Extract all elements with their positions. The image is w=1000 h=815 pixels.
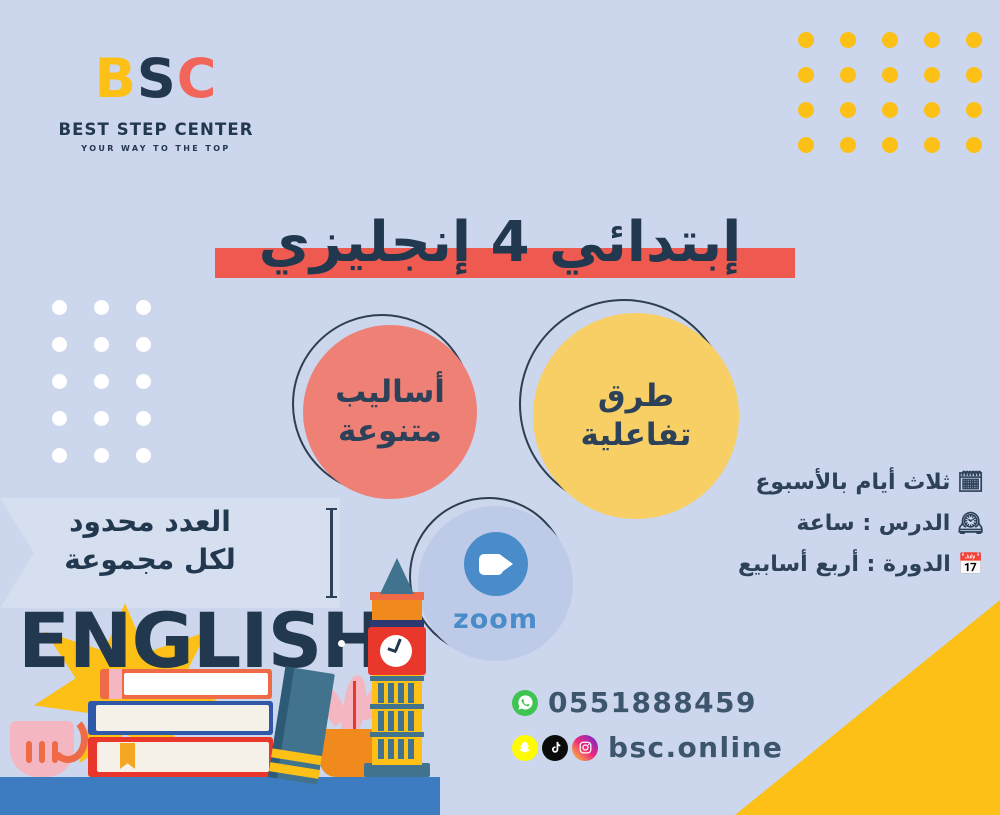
calendar-icon-2: 📅	[958, 554, 984, 575]
decorative-dot	[924, 67, 940, 83]
decorative-dot	[798, 102, 814, 118]
contact-block: 0551888459 bsc.online	[512, 686, 783, 776]
limited-seats-line-2: لكل مجموعة	[0, 541, 300, 579]
course-details-list: 🗓 ثلاث أيام بالأسبوع 🕰 الدرس : ساعة 📅 ال…	[684, 470, 984, 593]
big-ben-illustration	[362, 565, 432, 777]
tiktok-icon[interactable]	[542, 735, 568, 761]
decorative-dot	[94, 337, 109, 352]
decorative-dot	[94, 411, 109, 426]
snapchat-icon[interactable]	[512, 735, 538, 761]
decorative-dot	[136, 411, 151, 426]
decorative-dot	[136, 337, 151, 352]
phone-number[interactable]: 0551888459	[548, 686, 757, 719]
decorative-dot	[94, 374, 109, 389]
logo-name: BEST STEP CENTER	[56, 120, 256, 139]
course-detail-schedule: 🗓 ثلاث أيام بالأسبوع	[684, 470, 984, 495]
decorative-dot	[52, 300, 67, 315]
ground-strip	[0, 777, 440, 815]
teacup-illustration	[10, 715, 88, 777]
decorative-dot	[882, 32, 898, 48]
decorative-dot	[136, 300, 151, 315]
decorative-dot	[924, 32, 940, 48]
yellow-dot-grid	[798, 32, 1000, 172]
decorative-dot	[798, 67, 814, 83]
decorative-dot	[94, 448, 109, 463]
course-detail-duration: 📅 الدورة : أربع أسابيع	[684, 552, 984, 577]
varied-methods-circle: أساليبمتنوعة	[303, 325, 477, 499]
decorative-dot	[840, 102, 856, 118]
decorative-dot	[882, 137, 898, 153]
course-detail-lesson-length: 🕰 الدرس : ساعة	[684, 511, 984, 536]
social-icon-group	[512, 735, 598, 761]
course-detail-schedule-text: ثلاث أيام بالأسبوع	[755, 470, 950, 495]
decorative-dot	[52, 374, 67, 389]
logo-letter-c: C	[177, 47, 218, 110]
logo-tagline: YOUR WAY TO THE TOP	[56, 144, 256, 153]
handle-row[interactable]: bsc.online	[512, 731, 783, 764]
clock-icon: 🕰	[957, 513, 984, 534]
white-dot-grid	[52, 300, 178, 485]
book-stack-illustration	[88, 669, 273, 777]
decorative-dot	[798, 32, 814, 48]
limited-seats-text: العدد محدود لكل مجموعة	[0, 503, 300, 579]
calendar-icon: 🗓	[957, 472, 984, 493]
decorative-dot	[136, 448, 151, 463]
decorative-dot	[966, 102, 982, 118]
instagram-icon[interactable]	[572, 735, 598, 761]
decorative-dot	[966, 67, 982, 83]
course-detail-duration-text: الدورة : أربع أسابيع	[738, 552, 951, 577]
decorative-dot	[840, 137, 856, 153]
decorative-dot	[966, 32, 982, 48]
decorative-dot	[882, 102, 898, 118]
whatsapp-icon[interactable]	[512, 690, 538, 716]
interactive-ways-label: طرقتفاعلية	[581, 377, 692, 455]
decorative-dot	[966, 137, 982, 153]
logo-letter-s: S	[137, 47, 177, 110]
decorative-dot	[882, 67, 898, 83]
sparkle-dot	[338, 640, 345, 647]
zoom-wordmark: zoom	[453, 604, 538, 635]
headline-block: إبتدائي 4 إنجليزي	[0, 212, 1000, 274]
decorative-dot	[840, 32, 856, 48]
decorative-dot	[924, 137, 940, 153]
decorative-dot	[840, 67, 856, 83]
course-detail-lesson-length-text: الدرس : ساعة	[796, 511, 950, 536]
video-camera-icon	[464, 532, 528, 596]
decorative-dot	[52, 337, 67, 352]
decorative-dot	[798, 137, 814, 153]
poster-canvas: BSC BEST STEP CENTER YOUR WAY TO THE TOP…	[0, 0, 1000, 815]
decorative-dot	[52, 411, 67, 426]
decorative-dot	[924, 102, 940, 118]
english-illustration: ENGLISH	[0, 585, 460, 815]
decorative-dot	[52, 448, 67, 463]
page-title: إبتدائي 4 إنجليزي	[0, 212, 1000, 274]
limited-seats-line-1: العدد محدود	[0, 503, 300, 541]
decorative-dot	[94, 300, 109, 315]
varied-methods-label: أساليبمتنوعة	[335, 373, 445, 451]
decorative-dot	[136, 374, 151, 389]
bsc-logo: BSC BEST STEP CENTER YOUR WAY TO THE TOP	[56, 52, 256, 153]
logo-monogram: BSC	[56, 52, 256, 106]
logo-letter-b: B	[95, 47, 137, 110]
phone-row[interactable]: 0551888459	[512, 686, 783, 719]
website-handle[interactable]: bsc.online	[608, 731, 783, 764]
